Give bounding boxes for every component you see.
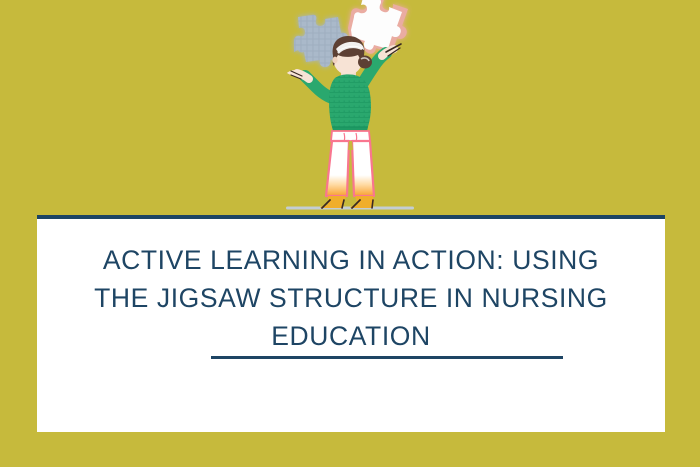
title-line-2: THE JIGSAW STRUCTURE IN NURSING	[37, 279, 665, 317]
sweater-icon	[329, 74, 371, 132]
shoes-icon	[320, 196, 374, 208]
title-line-1: ACTIVE LEARNING IN ACTION: USING	[37, 241, 665, 279]
slide-canvas: ACTIVE LEARNING IN ACTION: USING THE JIG…	[0, 0, 700, 467]
title-card: ACTIVE LEARNING IN ACTION: USING THE JIG…	[37, 215, 665, 432]
page-title: ACTIVE LEARNING IN ACTION: USING THE JIG…	[37, 241, 665, 355]
waistband-icon	[331, 131, 370, 141]
title-divider	[211, 356, 563, 359]
title-line-3: EDUCATION	[37, 317, 665, 355]
woman-holding-puzzle-pieces-illustration	[268, 0, 432, 216]
trousers-icon	[326, 141, 374, 196]
